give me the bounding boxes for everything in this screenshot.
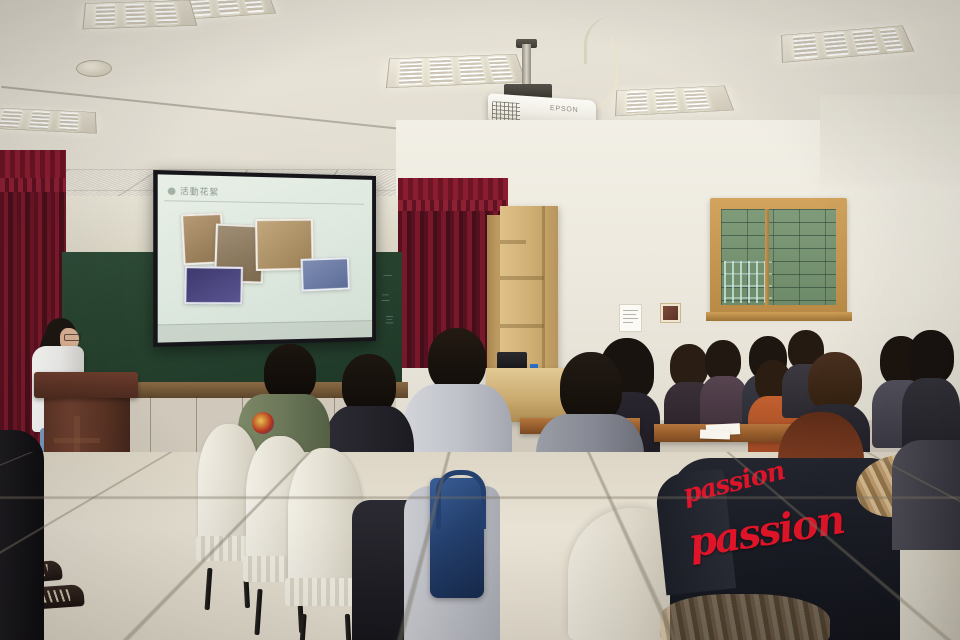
window [710,198,847,316]
chair-empty-3[interactable] [288,448,362,628]
troffer-far-left [0,108,97,134]
attendee-red-script-coat: passion passion [660,412,920,640]
window-glass [721,209,836,305]
ceiling-speaker [76,60,112,77]
glasses-icon [64,334,81,341]
chalk-note-3: 三 [385,314,394,328]
fur-trim-lower [660,594,830,640]
classroom-photo: EPSON 一 二 三 活動花絮 [0,0,960,640]
head [808,352,862,412]
slide-photo-4 [184,266,243,304]
chair-cover [288,448,362,585]
curtain-scallop-center [398,200,508,211]
window-sill [706,312,852,321]
troffer-right-edge [781,25,914,62]
troffer-right [615,86,734,117]
window-mullion [765,209,769,305]
podium-cross-horizontal [54,438,100,443]
slide-header: 活動花絮 [164,183,364,205]
curtain-scallop-left [0,178,66,192]
right-wall-upper [820,95,960,185]
wall-notice [619,304,642,332]
attendee-foreground-grey-shoulder [892,440,960,550]
slide-photo-5 [301,257,350,291]
wall-plaque [660,303,681,323]
seated-person-leg-foreground [0,430,44,640]
head [428,328,486,392]
projector-vent [492,101,520,122]
podium-top [34,372,138,398]
bag-strap [436,470,486,529]
screen-surface: 活動花絮 [158,174,372,342]
slide-footer [158,320,372,343]
troffer-left-rear [82,0,197,29]
chalk-note-2: 二 [381,292,390,306]
projection-screen: 活動花絮 [153,170,376,347]
cabinet-shelf-1 [500,240,526,244]
chalk-note-1: 一 [383,270,392,284]
slide-bullet-icon [168,187,176,195]
slide-title: 活動花絮 [180,186,219,198]
cabinet-shelf-2 [500,276,544,280]
head [908,330,954,384]
projector-mount-pole [522,44,531,86]
